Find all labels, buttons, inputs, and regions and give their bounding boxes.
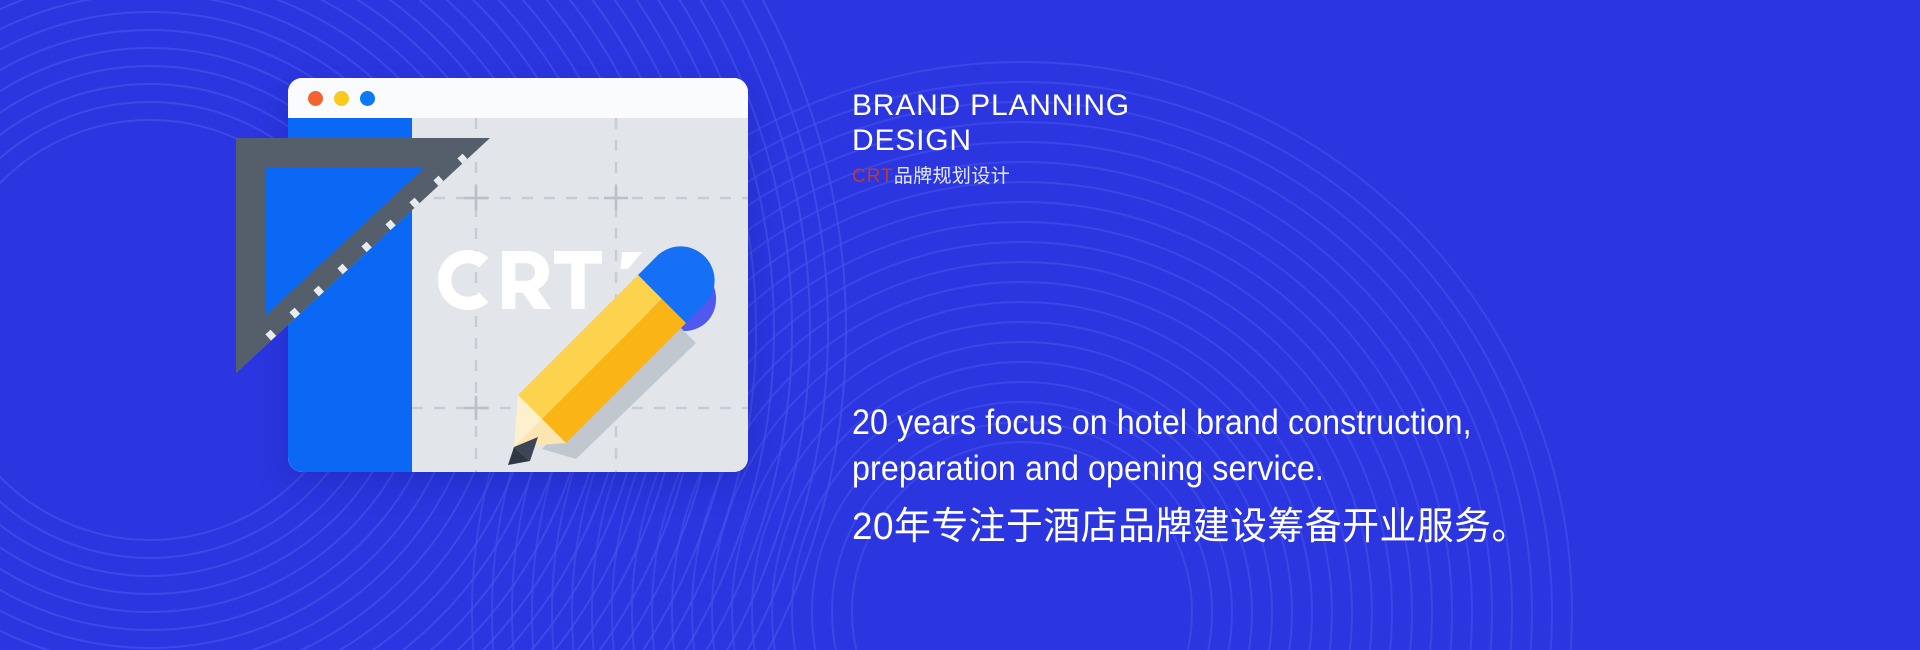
minimize-dot[interactable] [334,91,349,106]
eyebrow-chinese-text: 品牌规划设计 [894,166,1010,187]
window-titlebar [288,78,748,119]
headline-chinese: 20年专注于酒店品牌建设筹备开业服务。 [852,502,1667,552]
maximize-dot[interactable] [360,91,375,106]
pencil-icon [490,243,740,493]
window-traffic-lights [308,91,375,106]
headline-block: 20 years focus on hotel brand constructi… [852,400,1692,552]
eyebrow-english: BRAND PLANNING DESIGN [852,88,1412,158]
set-square-ruler-icon [228,130,508,380]
eyebrow-brand: CRT [852,166,894,187]
eyebrow-block: BRAND PLANNING DESIGN CRT品牌规划设计 [852,88,1412,190]
brand-design-illustration [228,78,748,478]
brand-banner: BRAND PLANNING DESIGN CRT品牌规划设计 20 years… [0,0,1920,650]
close-dot[interactable] [308,91,323,106]
eyebrow-chinese: CRT品牌规划设计 [852,164,1412,190]
headline-english: 20 years focus on hotel brand constructi… [852,400,1625,492]
